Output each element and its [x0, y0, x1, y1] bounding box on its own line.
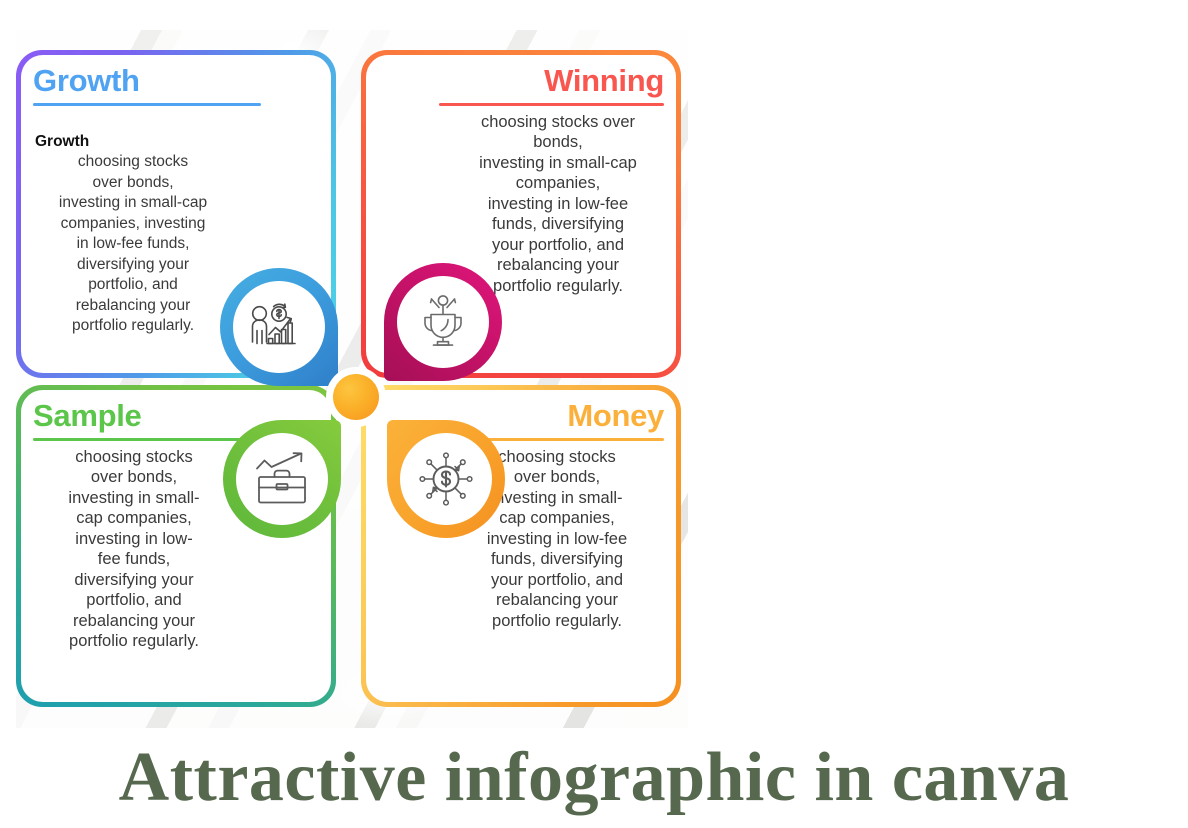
card-body-growth: Growthchoosing stocks over bonds, invest… [35, 112, 231, 337]
page-title: Attractive infographic in canva [0, 728, 1188, 828]
card-body-sample: choosing stocks over bonds, investing in… [35, 447, 233, 652]
screenshot-root: Growth Growthchoosing stocks over bonds,… [0, 0, 1188, 828]
badge-disc-sample [236, 433, 328, 525]
badge-disc-winning [397, 276, 489, 368]
title-underline-winning [439, 103, 664, 106]
icon-badge-sample[interactable] [223, 420, 341, 538]
infographic-canvas: Growth Growthchoosing stocks over bonds,… [16, 30, 688, 728]
badge-disc-growth [233, 281, 325, 373]
card-text-growth: choosing stocks over bonds, investing in… [59, 153, 207, 334]
card-lead-growth: Growth [35, 132, 231, 151]
growth-chart-person-icon [248, 302, 310, 352]
title-underline-growth [33, 103, 261, 106]
card-title-winning: Winning [378, 65, 664, 98]
dollar-network-icon [415, 448, 477, 510]
center-hub [326, 367, 386, 427]
card-title-growth: Growth [33, 65, 319, 98]
icon-badge-winning[interactable] [384, 263, 502, 381]
icon-badge-money[interactable] [387, 420, 505, 538]
icon-badge-growth[interactable] [220, 268, 338, 386]
center-hub-core [333, 374, 379, 420]
badge-disc-money [400, 433, 492, 525]
briefcase-growth-icon [252, 451, 312, 507]
trophy-winner-icon [415, 293, 471, 351]
